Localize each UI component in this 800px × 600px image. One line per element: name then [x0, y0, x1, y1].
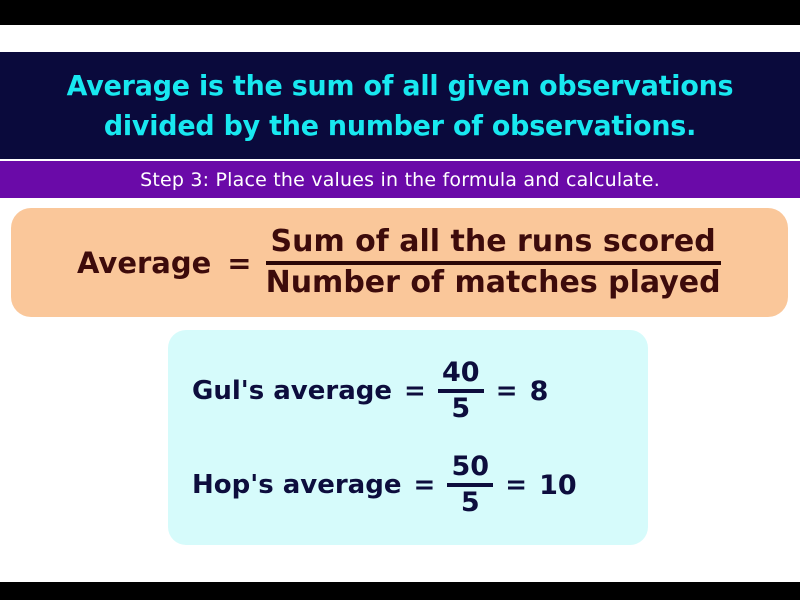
definition-text: Average is the sum of all given observat… [35, 66, 765, 146]
result-row: Gul's average = 40 5 = 8 [168, 344, 648, 438]
result-fraction: 50 5 [447, 452, 493, 517]
result-denominator: 5 [451, 394, 470, 424]
result-fraction: 40 5 [438, 358, 484, 423]
result-label: Gul's average [192, 376, 392, 406]
formula-equals-sign: = [227, 246, 251, 280]
step-bar: Step 3: Place the values in the formula … [0, 161, 800, 198]
formula-equation: Average = Sum of all the runs scored Num… [77, 225, 721, 299]
definition-line-2: divided by the number of observations. [35, 106, 765, 146]
formula-card: Average = Sum of all the runs scored Num… [11, 208, 788, 317]
result-denominator: 5 [461, 488, 480, 518]
result-value: 10 [539, 470, 577, 501]
slide-canvas: Average is the sum of all given observat… [0, 0, 800, 600]
result-equals-sign: = [404, 376, 426, 406]
step-label: Step 3: Place the values in the formula … [140, 169, 660, 191]
result-equals-sign-2: = [496, 376, 518, 406]
result-numerator: 40 [442, 358, 480, 388]
definition-line-1: Average is the sum of all given observat… [35, 66, 765, 106]
formula-denominator: Number of matches played [266, 266, 721, 300]
letterbox-bar-bottom [0, 582, 800, 600]
result-label: Hop's average [192, 470, 401, 500]
formula-left-term: Average [77, 246, 211, 280]
formula-fraction: Sum of all the runs scored Number of mat… [266, 225, 721, 299]
result-value: 8 [530, 376, 549, 407]
result-numerator: 50 [451, 452, 489, 482]
formula-numerator: Sum of all the runs scored [270, 225, 715, 259]
result-equals-sign-2: = [505, 470, 527, 500]
definition-banner: Average is the sum of all given observat… [0, 52, 800, 159]
results-card: Gul's average = 40 5 = 8 Hop's average =… [168, 330, 648, 545]
result-equals-sign: = [413, 470, 435, 500]
letterbox-bar-top [0, 0, 800, 25]
result-row: Hop's average = 50 5 = 10 [168, 438, 648, 532]
